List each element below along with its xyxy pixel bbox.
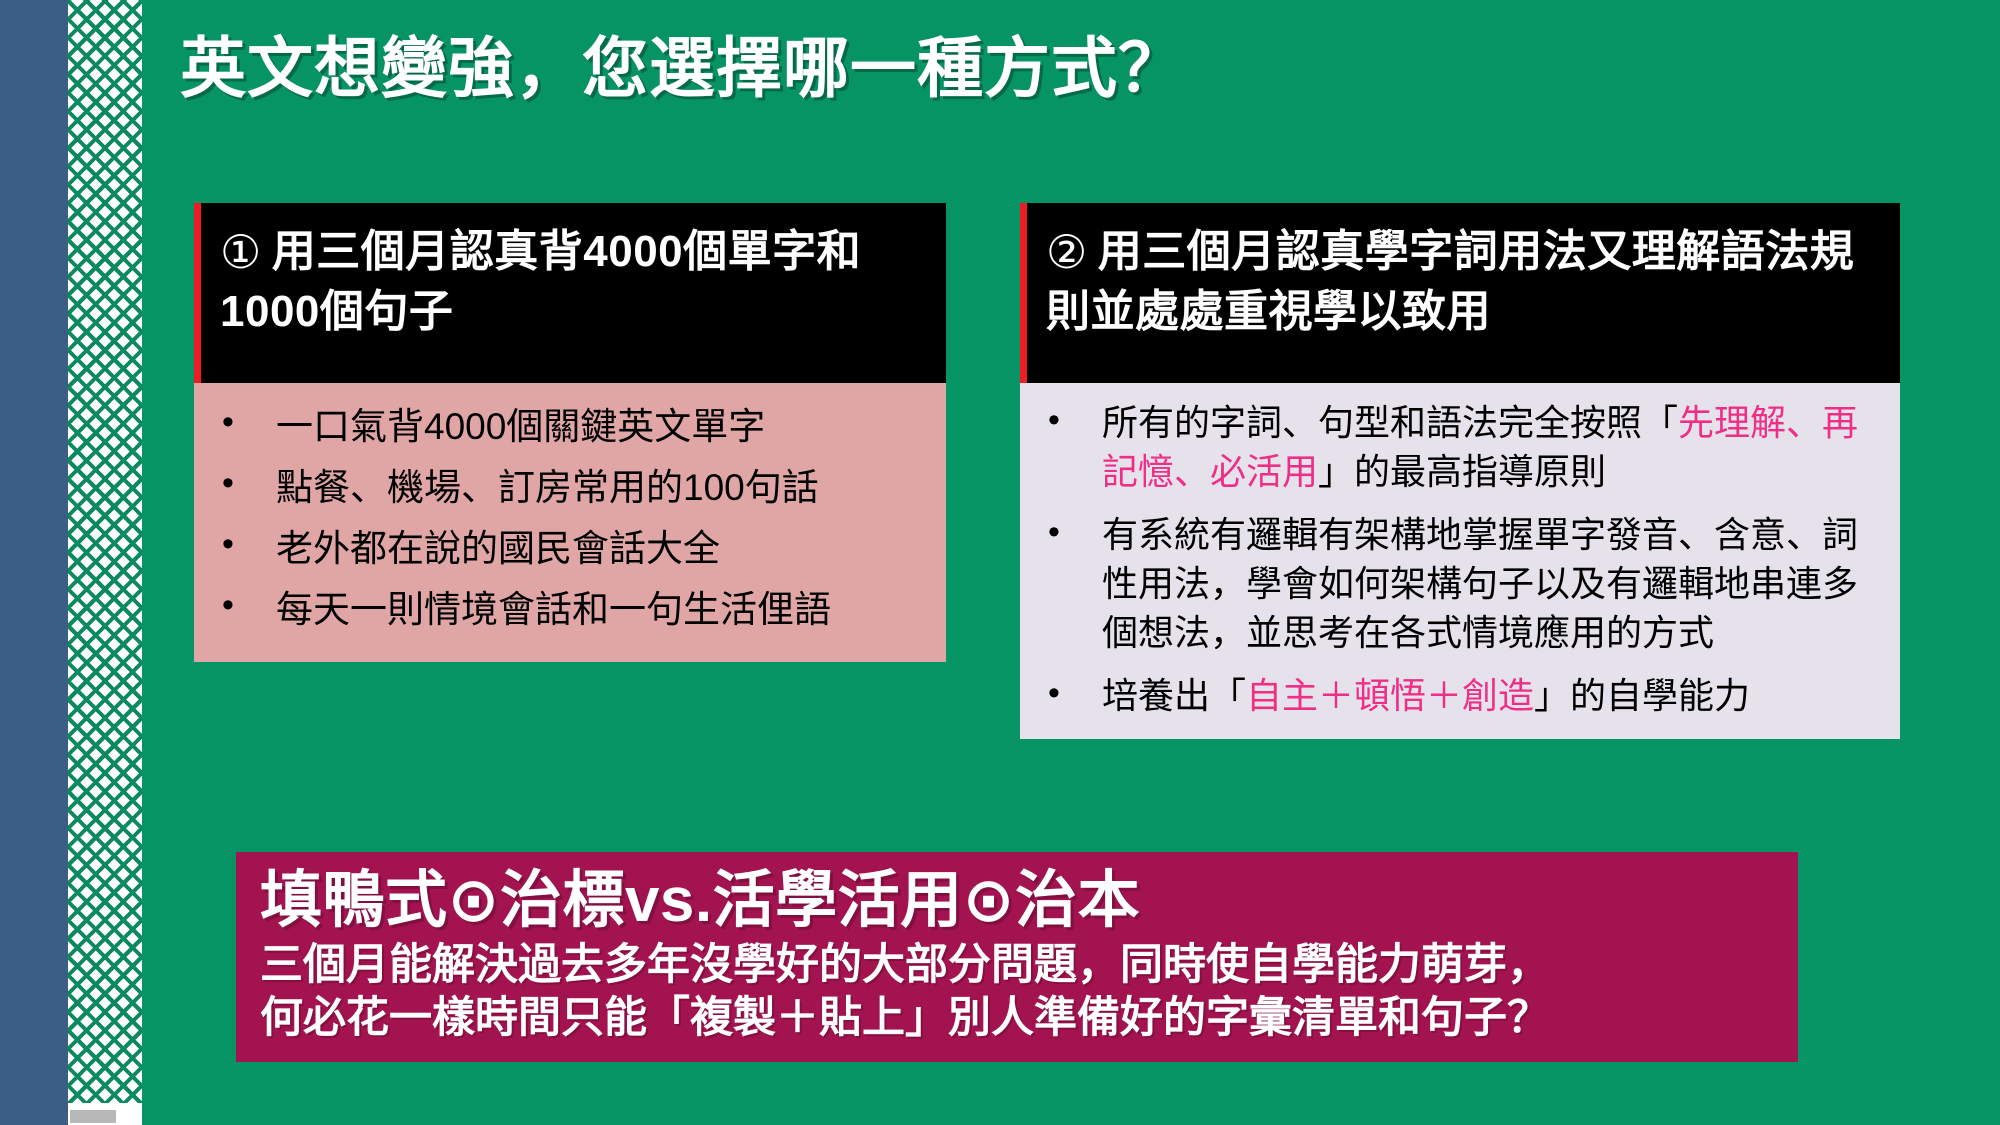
- bullet-text: 老外都在說的國民會話大全: [276, 528, 720, 569]
- bullet-text: 所有的字詞、句型和語法完全按照「: [1102, 402, 1678, 443]
- option-2-bullet-list: 所有的字詞、句型和語法完全按照「先理解、再記憶、必活用」的最高指導原則 有系統有…: [1040, 399, 1882, 721]
- bullet-text: 每天一則情境會話和一句生活俚語: [276, 589, 831, 630]
- option-1-bullet-list: 一口氣背4000個關鍵英文單字 點餐、機場、訂房常用的100句話 老外都在說的國…: [214, 399, 928, 638]
- left-rail-footer-mark: [70, 1110, 116, 1123]
- list-item: 有系統有邏輯有架構地掌握單字發音、含意、詞性用法，學會如何架構句子以及有邏輯地串…: [1040, 511, 1882, 658]
- option-2-header-text: 用三個月認真學字詞用法又理解語法規則並處處重視學以致用: [1046, 227, 1854, 336]
- banner-headline: 填鴨式⊙治標vs.活學活用⊙治本: [260, 866, 1776, 935]
- banner-subline-2: 何必花一樣時間只能「複製＋貼上」別人準備好的字彙清單和句子？: [260, 992, 1776, 1044]
- list-item: 一口氣背4000個關鍵英文單字: [214, 399, 928, 454]
- circled-number-2-icon: ②: [1046, 226, 1088, 278]
- list-item: 所有的字詞、句型和語法完全按照「先理解、再記憶、必活用」的最高指導原則: [1040, 399, 1882, 497]
- left-hatch-pattern-rail: [68, 0, 142, 1125]
- slide-title: 英文想變強，您選擇哪一種方式？: [180, 30, 1880, 107]
- banner-subline-1: 三個月能解決過去多年沒學好的大部分問題，同時使自學能力萌芽，: [260, 939, 1776, 991]
- conclusion-banner: 填鴨式⊙治標vs.活學活用⊙治本 三個月能解決過去多年沒學好的大部分問題，同時使…: [236, 852, 1798, 1062]
- bullet-highlight-text: 自主＋頓悟＋創造: [1246, 675, 1534, 716]
- list-item: 每天一則情境會話和一句生活俚語: [214, 582, 928, 637]
- option-1-body: 一口氣背4000個關鍵英文單字 點餐、機場、訂房常用的100句話 老外都在說的國…: [194, 383, 946, 662]
- option-2-header: ②用三個月認真學字詞用法又理解語法規則並處處重視學以致用: [1020, 203, 1900, 383]
- option-card-2: ②用三個月認真學字詞用法又理解語法規則並處處重視學以致用 所有的字詞、句型和語法…: [1020, 203, 1900, 739]
- bullet-text: 點餐、機場、訂房常用的100句話: [276, 467, 819, 508]
- red-accent-bar-2: [1020, 203, 1027, 383]
- bullet-text: 一口氣背4000個關鍵英文單字: [276, 406, 765, 447]
- option-2-body: 所有的字詞、句型和語法完全按照「先理解、再記憶、必活用」的最高指導原則 有系統有…: [1020, 383, 1900, 739]
- list-item: 培養出「自主＋頓悟＋創造」的自學能力: [1040, 672, 1882, 721]
- bullet-text: 」的最高指導原則: [1318, 451, 1606, 492]
- bullet-text: 」的自學能力: [1534, 675, 1750, 716]
- list-item: 點餐、機場、訂房常用的100句話: [214, 460, 928, 515]
- option-card-1: ①用三個月認真背4000個單字和1000個句子 一口氣背4000個關鍵英文單字 …: [194, 203, 946, 662]
- circled-number-1-icon: ①: [220, 226, 262, 278]
- option-1-header: ①用三個月認真背4000個單字和1000個句子: [194, 203, 946, 383]
- slide-canvas: 英文想變強，您選擇哪一種方式？ ①用三個月認真背4000個單字和1000個句子 …: [0, 0, 2000, 1125]
- red-accent-bar-1: [194, 203, 201, 383]
- left-blue-rail: [0, 0, 68, 1125]
- list-item: 老外都在說的國民會話大全: [214, 521, 928, 576]
- bullet-text: 培養出「: [1102, 675, 1246, 716]
- bullet-text: 有系統有邏輯有架構地掌握單字發音、含意、詞性用法，學會如何架構句子以及有邏輯地串…: [1102, 514, 1858, 653]
- option-1-header-text: 用三個月認真背4000個單字和1000個句子: [220, 227, 861, 336]
